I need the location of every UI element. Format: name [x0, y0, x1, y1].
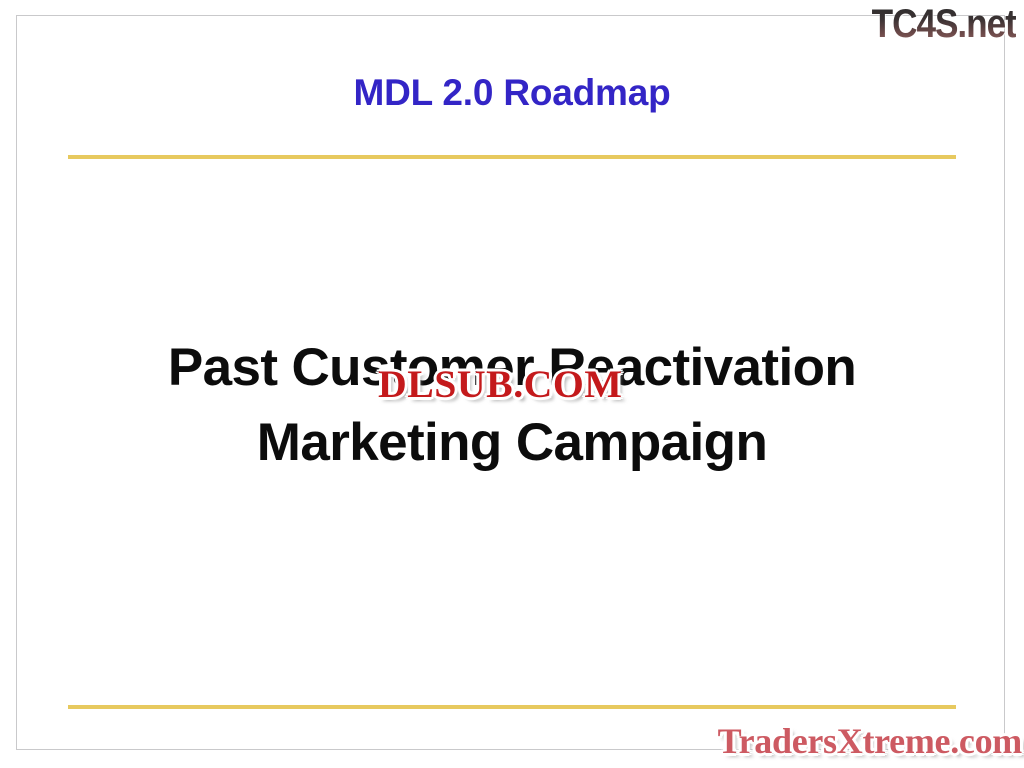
- divider-rule-bottom: [68, 705, 956, 709]
- slide-canvas: MDL 2.0 Roadmap Past Customer Reactivati…: [0, 0, 1024, 768]
- slide-title: MDL 2.0 Roadmap: [0, 74, 1024, 113]
- divider-rule-top: [68, 155, 956, 159]
- slide-main-heading: Past Customer Reactivation Marketing Cam…: [0, 330, 1024, 481]
- heading-line-2: Marketing Campaign: [0, 405, 1024, 480]
- heading-line-1: Past Customer Reactivation: [0, 330, 1024, 405]
